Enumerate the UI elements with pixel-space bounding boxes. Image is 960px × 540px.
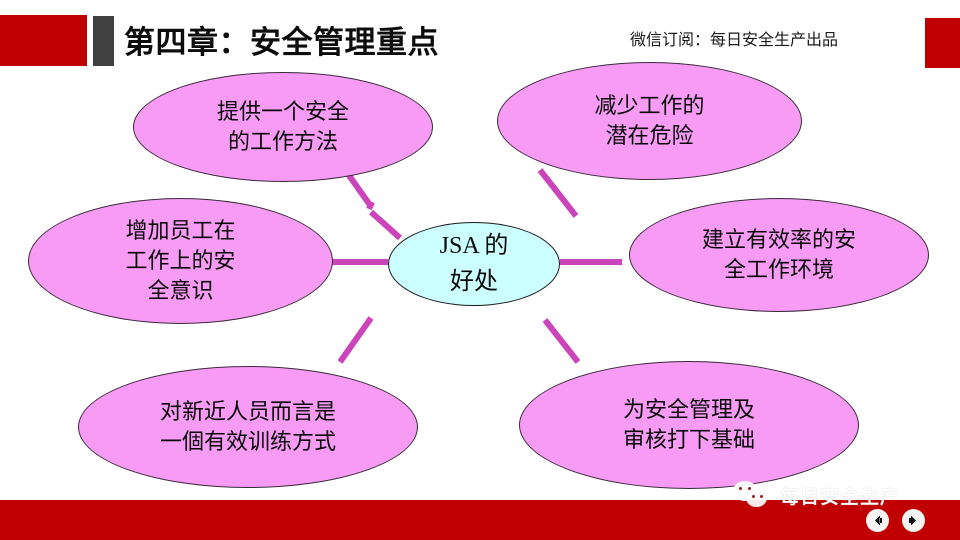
- watermark-label: 每日安全生产: [780, 482, 900, 509]
- next-slide-button[interactable]: [902, 509, 925, 532]
- slide-navigation: [866, 509, 925, 532]
- mindmap-node-bottom-left[interactable]: 对新近人员而言是 一個有效训练方式: [78, 366, 418, 488]
- mindmap-node-bottom-right[interactable]: 为安全管理及 审核打下基础: [519, 361, 859, 489]
- mindmap-node-bottom-right-label: 为安全管理及 审核打下基础: [613, 395, 765, 455]
- slide-canvas: 第四章：安全管理重点 微信订阅：每日安全生产出品 提供一个安全 的工作方法 减少…: [0, 0, 960, 540]
- connector-center-to-bottom-right: [545, 320, 578, 362]
- mindmap-node-center[interactable]: JSA 的 好处: [388, 222, 560, 306]
- mindmap-node-right-label: 建立有效率的安 全工作环境: [692, 225, 866, 285]
- connector-center-to-top-left: [369, 202, 372, 209]
- mindmap-node-center-label: JSA 的 好处: [430, 228, 519, 300]
- wechat-bubble-dot-1: [739, 487, 742, 490]
- mindmap-node-top-right[interactable]: 减少工作的 潜在危险: [497, 62, 802, 180]
- arrow-right-icon: [907, 514, 920, 527]
- mindmap-node-left-label: 增加员工在 工作上的安 全意识: [115, 216, 245, 306]
- mindmap-node-right[interactable]: 建立有效率的安 全工作环境: [629, 198, 929, 312]
- mind-map-diagram: 提供一个安全 的工作方法 减少工作的 潜在危险 增加员工在 工作上的安 全意识 …: [0, 0, 960, 540]
- mindmap-node-top-left[interactable]: 提供一个安全 的工作方法: [133, 72, 433, 182]
- wechat-icon: [733, 480, 773, 510]
- mindmap-node-left[interactable]: 增加员工在 工作上的安 全意识: [28, 198, 333, 324]
- mindmap-node-top-right-label: 减少工作的 潜在危险: [584, 91, 714, 151]
- wechat-bubble-dot-3: [752, 495, 755, 498]
- arrow-left-icon: [871, 514, 884, 527]
- wechat-bubble-dot-4: [760, 495, 763, 498]
- connector-center-to-bottom-left: [340, 318, 371, 362]
- mindmap-node-top-left-label: 提供一个安全 的工作方法: [207, 97, 359, 157]
- wechat-watermark: 每日安全生产: [733, 477, 958, 513]
- mindmap-node-bottom-left-label: 对新近人员而言是 一個有效训练方式: [150, 397, 346, 457]
- connector-center-to-top-right: [540, 170, 576, 216]
- connector-center-to-top-left-2: [371, 212, 400, 238]
- previous-slide-button[interactable]: [866, 509, 889, 532]
- wechat-bubble-small: [746, 489, 767, 507]
